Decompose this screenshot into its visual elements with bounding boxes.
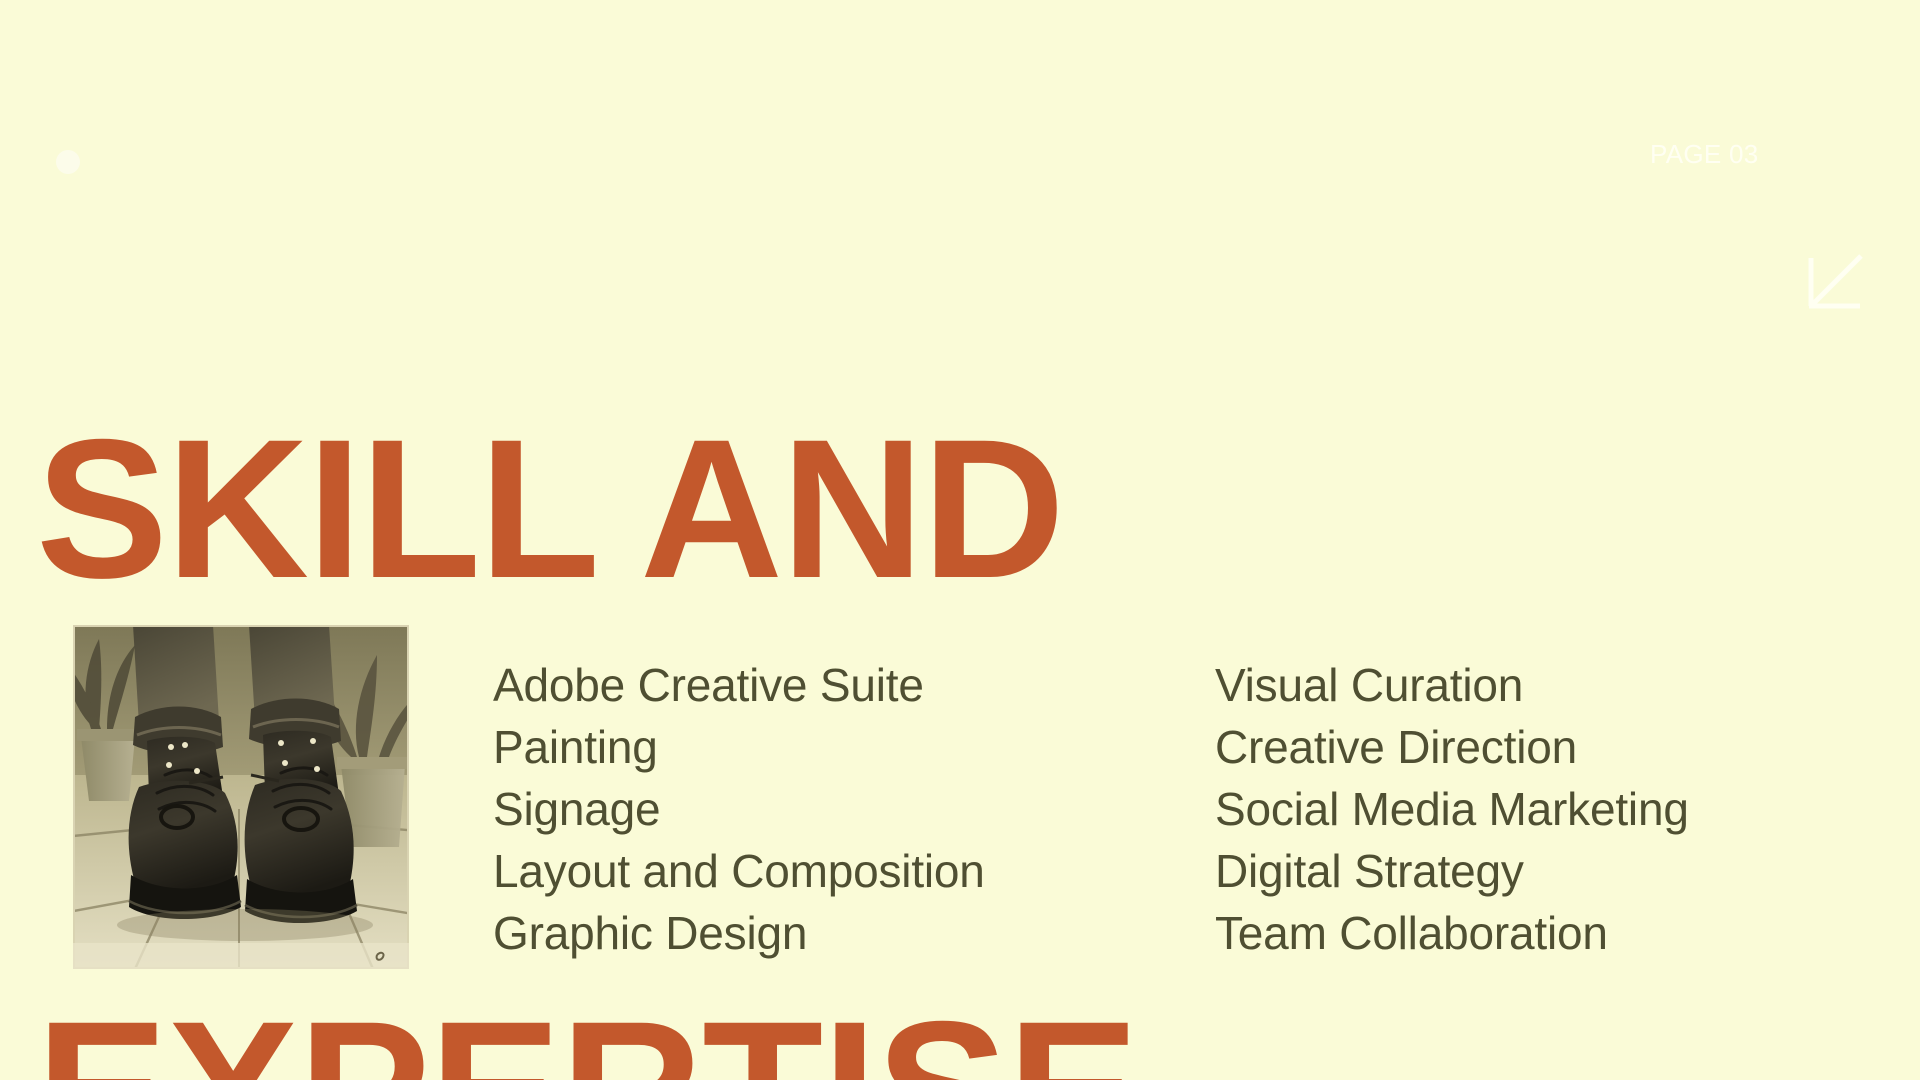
skill-item: Social Media Marketing	[1215, 778, 1689, 840]
skills-left-column: Adobe Creative Suite Painting Signage La…	[493, 654, 985, 964]
skill-item: Signage	[493, 778, 985, 840]
arrow-down-left-icon	[1808, 252, 1868, 312]
skills-list: Adobe Creative Suite Painting Signage La…	[0, 654, 1920, 954]
skill-item: Visual Curation	[1215, 654, 1689, 716]
page-number-label: PAGE 03	[1650, 139, 1759, 170]
skill-item: Graphic Design	[493, 902, 985, 964]
skills-right-column: Visual Curation Creative Direction Socia…	[1215, 654, 1689, 964]
skill-item: Creative Direction	[1215, 716, 1689, 778]
slide-canvas: SKILL AND EXPERTISE PAGE 03	[0, 0, 1920, 1080]
skill-item: Painting	[493, 716, 985, 778]
skill-item: Team Collaboration	[1215, 902, 1689, 964]
skill-item: Layout and Composition	[493, 840, 985, 902]
accent-dot	[56, 150, 80, 174]
skill-item: Digital Strategy	[1215, 840, 1689, 902]
skill-item: Adobe Creative Suite	[493, 654, 985, 716]
page-title-line-2: EXPERTISE	[36, 994, 1138, 1080]
page-title-line-1: SKILL AND	[36, 412, 1138, 606]
